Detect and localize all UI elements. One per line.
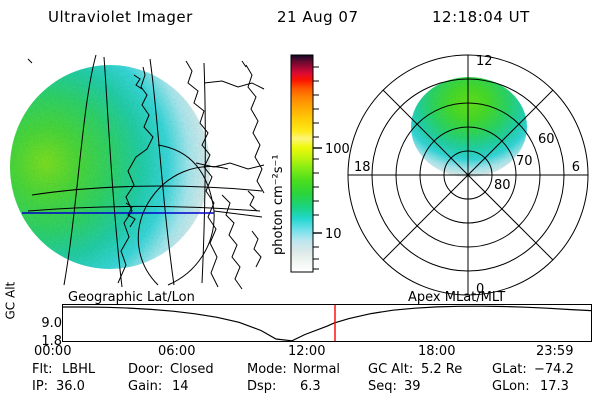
status-seq-value: 39 <box>404 379 421 394</box>
status-gain-value: 14 <box>172 379 189 394</box>
orbit-strip-chart: Geographic Lat/Lon Apex MLat/MLT GC Alt … <box>0 290 600 352</box>
polar-panel-caption: Apex MLat/MLT <box>408 290 505 305</box>
status-door-label: Door: <box>128 362 163 377</box>
aurora-emission-disk <box>10 65 210 269</box>
polar-grid <box>348 55 588 295</box>
polar-mlat-label-60: 60 <box>538 132 555 147</box>
observation-time: 12:18:04 UT <box>432 8 530 26</box>
status-gcalt-label: GC Alt: <box>368 362 413 377</box>
status-glat-value: −74.2 <box>534 362 574 377</box>
status-glon-value: 17.3 <box>540 379 569 394</box>
colorbar-panel: photon cm⁻²s⁻¹ <box>268 45 336 290</box>
polar-mlat-label-80: 80 <box>494 178 511 193</box>
status-door-value: Closed <box>170 362 214 377</box>
orbit-altitude-curve <box>63 306 591 341</box>
status-footer: Flt: LBHL Door: Closed Mode: Normal GC A… <box>0 362 600 400</box>
geographic-panel-caption: Geographic Lat/Lon <box>68 290 195 305</box>
status-flt-value: LBHL <box>62 362 95 377</box>
geographic-image-panel <box>8 45 266 290</box>
colorbar-minor-ticks <box>313 67 319 269</box>
orbit-x-tick-1: 06:00 <box>158 344 195 359</box>
status-row-2: IP: 36.0 Gain: 14 Dsp: 6.3 Seq: 39 GLon:… <box>0 379 600 396</box>
status-dsp-value: 6.3 <box>300 379 321 394</box>
orbit-x-tick-2: 12:00 <box>288 344 325 359</box>
polar-mlat-label-70: 70 <box>516 154 533 169</box>
colorbar-axis-label: photon cm⁻²s⁻¹ <box>271 154 286 255</box>
polar-mlt-label-18: 18 <box>354 160 371 175</box>
status-seq-label: Seq: <box>368 379 397 394</box>
status-ip-label: IP: <box>32 379 48 394</box>
status-flt-label: Flt: <box>32 362 53 377</box>
status-row-1: Flt: LBHL Door: Closed Mode: Normal GC A… <box>0 362 600 379</box>
polar-mlt-label-6: 6 <box>572 160 580 175</box>
orbit-y-ticks: 9.0 1.8 <box>20 302 62 342</box>
header-bar: Ultraviolet Imager 21 Aug 07 12:18:04 UT <box>0 6 600 32</box>
observation-date: 21 Aug 07 <box>277 8 359 26</box>
status-mode-value: Normal <box>293 362 340 377</box>
status-ip-value: 36.0 <box>56 379 85 394</box>
orbit-x-tick-0: 00:00 <box>34 344 71 359</box>
polar-mlt-label-12: 12 <box>476 54 493 69</box>
polar-plot-panel: 12 18 6 0 60 70 80 <box>338 45 592 290</box>
orbit-x-tick-3: 18:00 <box>418 344 455 359</box>
status-glon-label: GLon: <box>492 379 530 394</box>
orbit-y-tick-high: 9.0 <box>41 316 62 331</box>
orbit-plot-area <box>62 304 592 342</box>
status-gain-label: Gain: <box>128 379 162 394</box>
orbit-x-tick-4: 23:59 <box>536 344 573 359</box>
status-dsp-label: Dsp: <box>247 379 276 394</box>
colorbar-gradient <box>291 55 313 272</box>
orbit-y-axis-label: GC Alt <box>2 304 20 344</box>
status-glat-label: GLat: <box>492 362 527 377</box>
uvi-display: Ultraviolet Imager 21 Aug 07 12:18:04 UT <box>0 0 600 400</box>
page-title: Ultraviolet Imager <box>48 8 193 26</box>
status-mode-label: Mode: <box>247 362 287 377</box>
status-gcalt-value: 5.2 Re <box>421 362 462 377</box>
